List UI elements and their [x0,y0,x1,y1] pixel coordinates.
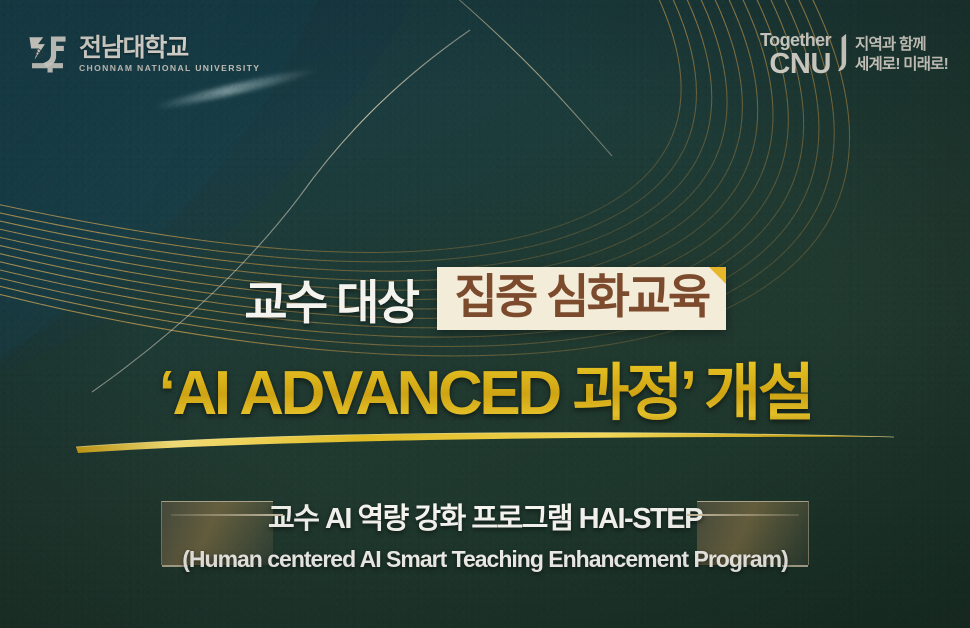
headline-line-2: ‘AI ADVANCED 과정’ 개설 [0,342,970,432]
headline-highlight-box: 집중 심화교육 [437,267,725,330]
headline-audience-text: 교수 대상 [244,264,417,333]
poster-canvas: 전남대학교 CHONNAM NATIONAL UNIVERSITY Togeth… [0,0,970,628]
headline-course-title: ‘AI ADVANCED 과정’ 개설 [159,342,812,432]
logo-english-name: CHONNAM NATIONAL UNIVERSITY [79,64,260,73]
slogan-cnu-text: CNU [769,50,831,79]
university-logo: 전남대학교 CHONNAM NATIONAL UNIVERSITY [26,33,260,76]
rule-left-icon [171,514,283,516]
slogan-line-1: 지역과 함께 [855,35,948,55]
program-block: 교수 AI 역량 강화 프로그램 HAI-STEP (Human centere… [161,492,809,578]
headline-highlight-text: 집중 심화교육 [454,273,708,321]
slogan-line-2: 세계로! 미래로! [855,55,948,75]
corner-fold-icon [709,267,726,284]
gold-swoosh-underline-icon [70,428,900,454]
headline-line-1: 교수 대상 집중 심화교육 [0,264,970,333]
flag-tick-icon [836,32,849,72]
cnu-emblem-icon [26,33,69,76]
rule-right-icon [687,514,799,516]
slogan-together-text: Together [760,31,831,49]
program-subtitle: (Human centered AI Smart Teaching Enhanc… [182,546,787,573]
program-title: 교수 AI 역량 강화 프로그램 HAI-STEP [268,495,702,537]
logo-korean-name: 전남대학교 [79,36,260,61]
cnu-slogan: Together CNU 지역과 함께 세계로! 미래로! [760,31,948,79]
